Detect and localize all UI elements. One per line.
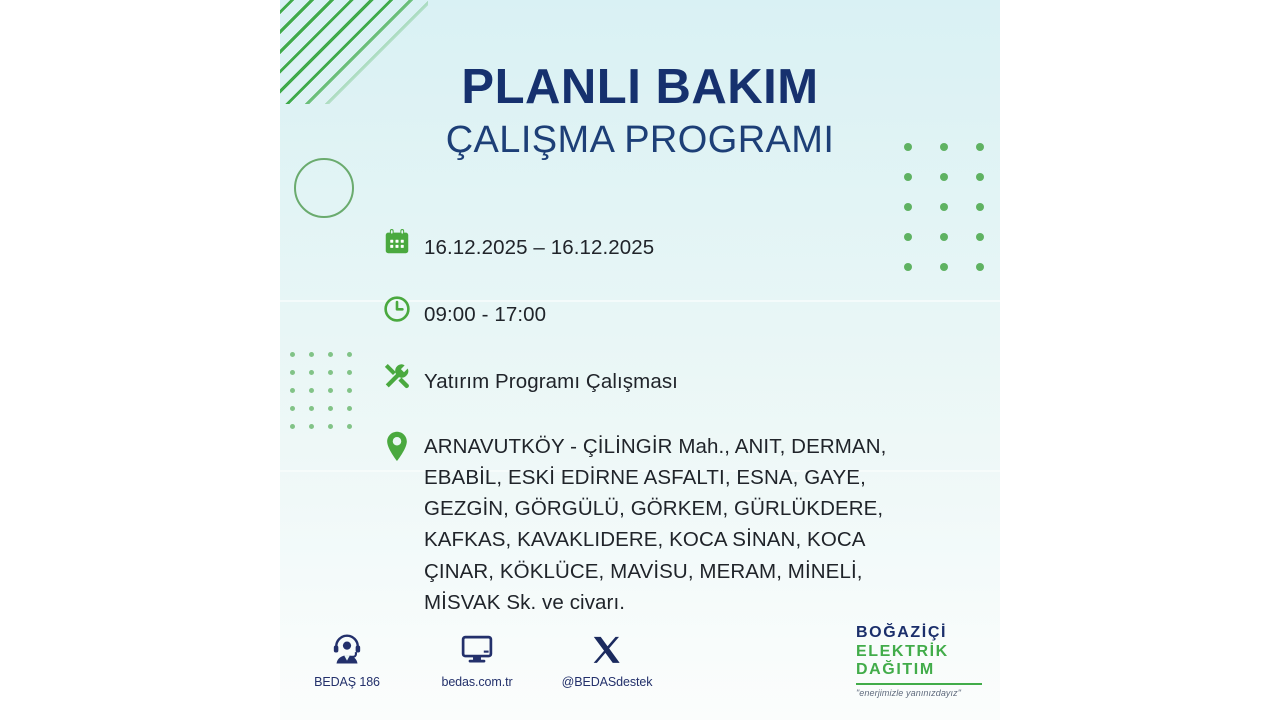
brand-line-dagitim: DAĞITIM (856, 661, 988, 680)
grid-dot (290, 424, 295, 429)
grid-dot (309, 424, 314, 429)
screenshot-root: PLANLI BAKIM ÇALIŞMA PROGRAMI (0, 0, 1280, 720)
grid-dot (290, 370, 295, 375)
detail-row-time: 09:00 - 17:00 (382, 293, 982, 334)
grid-dot (940, 173, 948, 181)
grid-dot (309, 352, 314, 357)
footer: BEDAŞ 186 bedas.com.tr (280, 620, 1000, 704)
grid-dot (347, 352, 352, 357)
circle-outline-decoration (294, 158, 354, 218)
brand-tagline: "enerjimizle yanınızdayız" (856, 688, 988, 698)
grid-dot (976, 203, 984, 211)
grid-dot (290, 352, 295, 357)
maintenance-notice-card: PLANLI BAKIM ÇALIŞMA PROGRAMI (280, 0, 1000, 720)
grid-dot (328, 352, 333, 357)
contact-x-label: @BEDASdestek (562, 675, 653, 689)
address-value: ARNAVUTKÖY - ÇİLİNGİR Mah., ANIT, DERMAN… (424, 429, 924, 618)
brand-divider (856, 683, 982, 685)
contact-phone[interactable]: BEDAŞ 186 (304, 628, 390, 689)
grid-dot (347, 406, 352, 411)
brand-line-bogazici: BOĞAZİÇİ (856, 624, 988, 643)
contact-channels: BEDAŞ 186 bedas.com.tr (304, 628, 650, 689)
grid-dot (904, 203, 912, 211)
page-title-block: PLANLI BAKIM ÇALIŞMA PROGRAMI (280, 62, 1000, 163)
page-subtitle: ÇALIŞMA PROGRAMI (280, 118, 1000, 163)
grid-dot (347, 424, 352, 429)
date-range-value: 16.12.2025 – 16.12.2025 (424, 226, 654, 263)
contact-phone-label: BEDAŞ 186 (314, 675, 380, 689)
grid-dot (290, 388, 295, 393)
brand-line-elektrik: ELEKTRİK (856, 643, 988, 662)
grid-dot (309, 406, 314, 411)
grid-dot (347, 388, 352, 393)
grid-dot (309, 370, 314, 375)
clock-icon (382, 293, 424, 334)
detail-row-date: 16.12.2025 – 16.12.2025 (382, 226, 982, 267)
x-twitter-icon (591, 628, 623, 666)
outage-details-list: 16.12.2025 – 16.12.2025 09:00 - 17:00 (382, 226, 982, 618)
grid-dot (347, 370, 352, 375)
calendar-icon (382, 226, 424, 267)
contact-x-account[interactable]: @BEDASdestek (564, 628, 650, 689)
location-pin-icon (382, 429, 424, 470)
grid-dot (976, 173, 984, 181)
page-title: PLANLI BAKIM (280, 62, 1000, 114)
contact-website[interactable]: bedas.com.tr (434, 628, 520, 689)
grid-dot (309, 388, 314, 393)
detail-row-work-type: Yatırım Programı Çalışması (382, 360, 982, 401)
headset-support-icon (330, 628, 364, 666)
work-type-value: Yatırım Programı Çalışması (424, 360, 678, 397)
grid-dot (328, 370, 333, 375)
company-logo: BOĞAZİÇİ ELEKTRİK DAĞITIM "enerjimizle y… (856, 624, 988, 698)
grid-dot (328, 424, 333, 429)
grid-dot (328, 406, 333, 411)
grid-dot (328, 388, 333, 393)
detail-row-address: ARNAVUTKÖY - ÇİLİNGİR Mah., ANIT, DERMAN… (382, 429, 982, 618)
grid-dot (290, 406, 295, 411)
tools-icon (382, 360, 424, 401)
dot-grid-decoration-left (290, 352, 352, 429)
grid-dot (904, 173, 912, 181)
grid-dot (940, 203, 948, 211)
monitor-website-icon (460, 628, 494, 666)
time-range-value: 09:00 - 17:00 (424, 293, 546, 330)
contact-website-label: bedas.com.tr (441, 675, 512, 689)
